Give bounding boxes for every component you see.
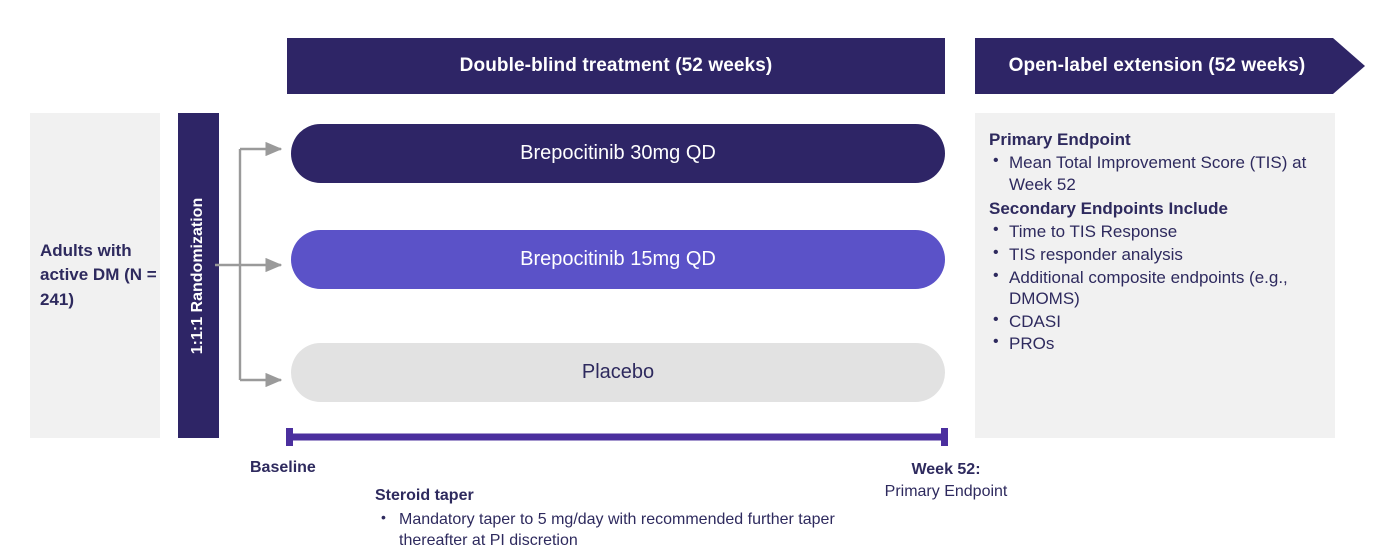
randomization-bar: 1:1:1 Randomization — [178, 113, 219, 438]
steroid-taper-note: Steroid taper Mandatory taper to 5 mg/da… — [375, 486, 845, 552]
list-item: TIS responder analysis — [989, 244, 1317, 266]
phase-bar-open-label-label: Open-label extension (52 weeks) — [1009, 55, 1306, 77]
phase-bar-double-blind: Double-blind treatment (52 weeks) — [287, 38, 945, 94]
timeline-end-subtitle: Primary Endpoint — [843, 481, 1049, 503]
population-label: Adults with active DM (N = 241) — [40, 239, 160, 313]
list-item: CDASI — [989, 311, 1317, 333]
list-item: Mean Total Improvement Score (TIS) at We… — [989, 152, 1317, 195]
list-item: Time to TIS Response — [989, 221, 1317, 243]
treatment-arm-placebo: Placebo — [291, 343, 945, 402]
phase-bar-double-blind-label: Double-blind treatment (52 weeks) — [460, 55, 773, 77]
endpoints-panel: Primary Endpoint Mean Total Improvement … — [975, 113, 1335, 438]
treatment-arm-label: Placebo — [582, 361, 654, 384]
primary-endpoint-heading: Primary Endpoint — [989, 129, 1317, 151]
list-item: Additional composite endpoints (e.g., DM… — [989, 267, 1317, 310]
population-box: Adults with active DM (N = 241) — [30, 113, 160, 438]
timeline-start-cap — [286, 428, 293, 446]
primary-endpoint-list: Mean Total Improvement Score (TIS) at We… — [989, 152, 1317, 195]
treatment-arm-label: Brepocitinib 30mg QD — [520, 142, 716, 165]
timeline-end-cap — [941, 428, 948, 446]
treatment-arm-label: Brepocitinib 15mg QD — [520, 248, 716, 271]
list-item: Mandatory taper to 5 mg/day with recomme… — [375, 509, 845, 552]
timeline-end-block: Week 52: Primary Endpoint — [843, 459, 1049, 502]
timeline-bar — [286, 434, 948, 441]
timeline-end-title: Week 52: — [843, 459, 1049, 481]
steroid-taper-list: Mandatory taper to 5 mg/day with recomme… — [375, 509, 845, 552]
treatment-arm-brepocitinib-30mg: Brepocitinib 30mg QD — [291, 124, 945, 183]
timeline-start-label: Baseline — [250, 459, 316, 477]
steroid-taper-title: Steroid taper — [375, 486, 845, 507]
list-item: PROs — [989, 333, 1317, 355]
study-timeline — [286, 427, 948, 447]
secondary-endpoint-heading: Secondary Endpoints Include — [989, 198, 1317, 220]
secondary-endpoint-list: Time to TIS Response TIS responder analy… — [989, 221, 1317, 354]
study-design-diagram: Double-blind treatment (52 weeks) Open-l… — [0, 0, 1396, 557]
phase-bar-open-label: Open-label extension (52 weeks) — [975, 38, 1365, 94]
treatment-arm-brepocitinib-15mg: Brepocitinib 15mg QD — [291, 230, 945, 289]
randomization-label: 1:1:1 Randomization — [190, 197, 208, 353]
